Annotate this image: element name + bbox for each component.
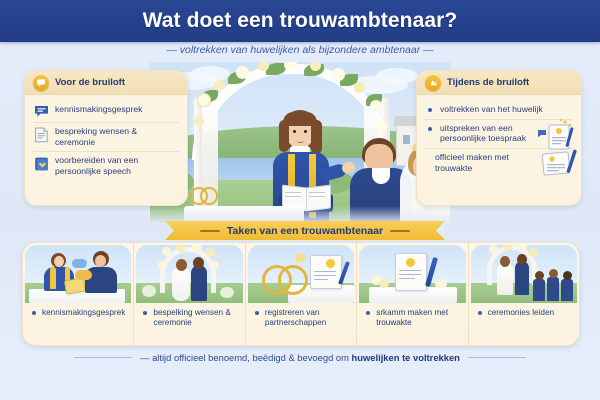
tasks-card: kennismakingsgesprek: [22, 242, 580, 346]
guests-ceremony-scene: [471, 245, 577, 303]
ceremony-scene: [136, 245, 242, 303]
main-illustration: [150, 62, 450, 224]
task-item: srkamm maken met trouwakte: [357, 243, 468, 345]
page-subtitle: — voltrekken van huwelijken als bijzonde…: [0, 44, 600, 56]
footer: — altijd officieel benoemd, beëdigd & be…: [0, 352, 600, 363]
book-heart-icon: [33, 155, 50, 172]
panel-right-header: Tijdens de bruiloft: [417, 71, 581, 95]
footer-text-bold: huwelijken te voltrekken: [352, 352, 460, 363]
certificate-scene: [359, 245, 465, 303]
panel-left-title: Voor de bruiloft: [55, 77, 125, 88]
list-item: voltrekken van het huwelijk: [425, 101, 573, 120]
list-item-label: voltrekken van het huwelijk: [440, 104, 543, 115]
panel-left-header: Voor de bruiloft: [25, 71, 187, 95]
bullet-icon: [428, 127, 432, 131]
speech-certificate-icon: [535, 118, 575, 150]
footer-rule-right: [468, 357, 526, 358]
task-caption: ceremonies leiden: [469, 303, 579, 345]
list-item-label: kennismakingsgesprek: [55, 104, 142, 115]
task-caption: kennismakingsgesprek: [23, 303, 133, 345]
wedding-bells-icon: [425, 75, 441, 91]
list-item-label: uitspreken van een persoonlijke toespraa…: [440, 123, 536, 144]
banner-dash-right: [390, 230, 410, 232]
section-banner: Taken van een trouwambtenaar: [165, 221, 445, 240]
task-label: bespelking wensen & ceremonie: [153, 308, 239, 328]
speech-bubble-icon: [33, 75, 49, 91]
task-label: srkamm maken met trouwakte: [376, 308, 462, 328]
panel-before-wedding: Voor de bruiloft kennismakingsgesprek: [24, 70, 188, 206]
list-item: officieel maken met trouwakte: [425, 149, 573, 177]
marriage-certificate-icon: [537, 145, 577, 177]
document-icon: [33, 126, 50, 143]
panel-right-body: voltrekken van het huwelijk uitspreken v…: [417, 95, 581, 182]
panel-left-body: kennismakingsgesprek bespreking wensen &: [25, 95, 187, 185]
footer-rule-left: [74, 357, 132, 358]
panel-during-wedding: Tijdens de bruiloft voltrekken van het h…: [416, 70, 582, 206]
page-title: Wat doet een trouwambtenaar?: [143, 9, 458, 33]
task-item: kennismakingsgesprek: [23, 243, 134, 345]
task-label: kennismakingsgesprek: [42, 308, 125, 318]
wedding-rings: [190, 186, 220, 202]
rings-document-scene: [248, 245, 354, 303]
panel-right-title: Tijdens de bruiloft: [447, 77, 529, 88]
list-item: voorbereiden van een persoonlijke speech: [33, 152, 179, 180]
task-item: registreren van partnerschappen: [246, 243, 357, 345]
task-label: ceremonies leiden: [488, 308, 554, 318]
consultation-scene: [25, 245, 131, 303]
speech-bubble-icon: [33, 104, 50, 118]
task-caption: srkamm maken met trouwakte: [357, 303, 467, 345]
header-bar: Wat doet een trouwambtenaar?: [0, 0, 600, 42]
list-item-label: officieel maken met trouwakte: [425, 152, 523, 173]
footer-text: — altijd officieel benoemd, beëdigd & be…: [140, 352, 460, 363]
list-item: uitspreken van een persoonlijke toespraa…: [425, 120, 573, 149]
list-item-label: voorbereiden van een persoonlijke speech: [55, 155, 179, 176]
task-item: bespelking wensen & ceremonie: [134, 243, 245, 345]
infographic-root: Wat doet een trouwambtenaar? — voltrekke…: [0, 0, 600, 400]
list-item-label: bespreking wensen & ceremonie: [55, 126, 179, 147]
list-item: kennismakingsgesprek: [33, 101, 179, 123]
task-caption: registreren van partnerschappen: [246, 303, 356, 345]
footer-text-plain: — altijd officieel benoemd, beëdigd & be…: [140, 352, 351, 363]
task-caption: bespelking wensen & ceremonie: [134, 303, 244, 345]
task-label: registreren van partnerschappen: [265, 308, 351, 328]
section-banner-label: Taken van een trouwambtenaar: [227, 225, 383, 237]
list-item: bespreking wensen & ceremonie: [33, 123, 179, 152]
banner-dash-left: [200, 230, 220, 232]
task-item: ceremonies leiden: [469, 243, 579, 345]
bullet-icon: [428, 108, 432, 112]
